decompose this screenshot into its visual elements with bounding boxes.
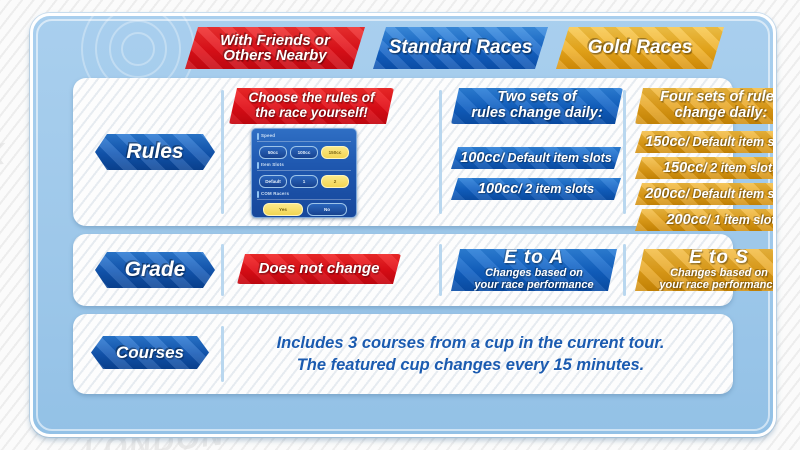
mockup-section-title-item-slots: Item Slots — [257, 162, 284, 167]
rule-rest: / 1 item slot — [707, 213, 776, 227]
rule-cc: 100cc — [478, 181, 518, 197]
gold-rule-item: 200cc / 1 item slot — [635, 209, 776, 231]
friends-rules-heading: Choose the rules of the race yourself! — [229, 88, 394, 124]
info-panel-frame: With Friends or Others Nearby Standard R… — [30, 13, 776, 437]
tab-label: Standard Races — [389, 38, 533, 57]
grade-text: Does not change — [259, 261, 380, 277]
column-divider — [221, 90, 224, 214]
heading-line2: the race yourself! — [255, 106, 368, 121]
mockup-divider — [257, 141, 351, 142]
mockup-option-no[interactable]: No — [307, 203, 347, 216]
mockup-option-150cc[interactable]: 150cc — [321, 146, 349, 159]
courses-line2: The featured cup changes every 15 minute… — [297, 354, 645, 376]
rule-cc: 100cc — [460, 150, 500, 166]
grade-gold-value: E to S Changes based on your race perfor… — [635, 249, 776, 291]
mockup-option-50cc[interactable]: 50cc — [259, 146, 287, 159]
heading-line1: Two sets of — [497, 90, 576, 106]
courses-row-card: Courses Includes 3 courses from a cup in… — [73, 314, 733, 394]
rule-cc: 150cc — [645, 134, 685, 150]
row-label-text: Rules — [126, 140, 183, 164]
standard-rule-item: 100cc / Default item slots — [451, 147, 621, 169]
row-label-grade: Grade — [95, 252, 215, 288]
race-rules-settings-mockup[interactable]: Speed 50cc 100cc 150cc Item Slots Defaul… — [251, 128, 357, 218]
column-divider — [439, 244, 442, 296]
grade-row-card: Grade Does not change E to A Changes bas… — [73, 234, 733, 306]
rule-cc: 200cc — [645, 186, 685, 202]
grade-sub-line2: your race performance — [474, 280, 593, 292]
courses-line1: Includes 3 courses from a cup in the cur… — [277, 332, 665, 354]
rule-rest: / 2 item slots — [518, 182, 594, 196]
tab-label-line2: Others Nearby — [220, 48, 330, 63]
rule-cc: 200cc — [666, 212, 706, 228]
tab-label-line1: With Friends or — [220, 33, 330, 48]
mockup-divider — [257, 199, 351, 200]
rule-rest: / 2 item slots — [703, 161, 776, 175]
column-divider — [623, 244, 626, 296]
mockup-section-title-speed: Speed — [257, 133, 275, 138]
column-divider — [623, 90, 626, 214]
standard-rule-item: 100cc / 2 item slots — [451, 178, 621, 200]
gold-rule-item: 200cc / Default item slots — [635, 183, 776, 205]
tab-gold-races[interactable]: Gold Races — [556, 27, 724, 69]
grade-friends-value: Does not change — [237, 254, 401, 284]
grade-range: E to S — [689, 248, 749, 268]
mockup-divider — [257, 170, 351, 171]
gold-rule-item: 150cc / Default item slots — [635, 131, 776, 153]
rules-row-card: Rules Choose the rules of the race yours… — [73, 78, 733, 226]
rule-rest: / Default item slots — [501, 151, 612, 165]
standard-rules-heading: Two sets of rules change daily: — [451, 88, 623, 124]
heading-line2: change daily: — [675, 106, 768, 122]
gold-rule-item: 150cc / 2 item slots — [635, 157, 776, 179]
tab-label: Gold Races — [588, 38, 693, 57]
mockup-option-1[interactable]: 1 — [290, 175, 318, 188]
rule-rest: / Default item slots — [686, 187, 776, 201]
mockup-option-default[interactable]: Default — [259, 175, 287, 188]
gold-rules-heading: Four sets of rules change daily: — [635, 88, 776, 124]
row-label-text: Courses — [116, 343, 184, 363]
grade-standard-value: E to A Changes based on your race perfor… — [451, 249, 617, 291]
mockup-section-title-com-racers: COM Racers — [257, 191, 289, 196]
grade-sub-line2: your race performance — [659, 280, 776, 292]
category-tabs: With Friends or Others Nearby Standard R… — [33, 27, 773, 75]
grade-range: E to A — [504, 248, 564, 268]
heading-line2: rules change daily: — [471, 106, 602, 122]
row-label-rules: Rules — [95, 134, 215, 170]
heading-line1: Four sets of rules — [660, 90, 776, 106]
courses-description: Includes 3 courses from a cup in the cur… — [223, 328, 718, 380]
mockup-option-2[interactable]: 2 — [321, 175, 349, 188]
tab-with-friends-or-others-nearby[interactable]: With Friends or Others Nearby — [185, 27, 365, 69]
row-label-courses: Courses — [91, 336, 209, 369]
heading-line1: Choose the rules of — [248, 91, 374, 106]
mockup-option-100cc[interactable]: 100cc — [290, 146, 318, 159]
column-divider — [221, 244, 224, 296]
tab-standard-races[interactable]: Standard Races — [373, 27, 548, 69]
row-label-text: Grade — [125, 258, 186, 282]
mockup-option-yes[interactable]: Yes — [263, 203, 303, 216]
rule-rest: / Default item slots — [686, 135, 776, 149]
column-divider — [439, 90, 442, 214]
rule-cc: 150cc — [663, 160, 703, 176]
